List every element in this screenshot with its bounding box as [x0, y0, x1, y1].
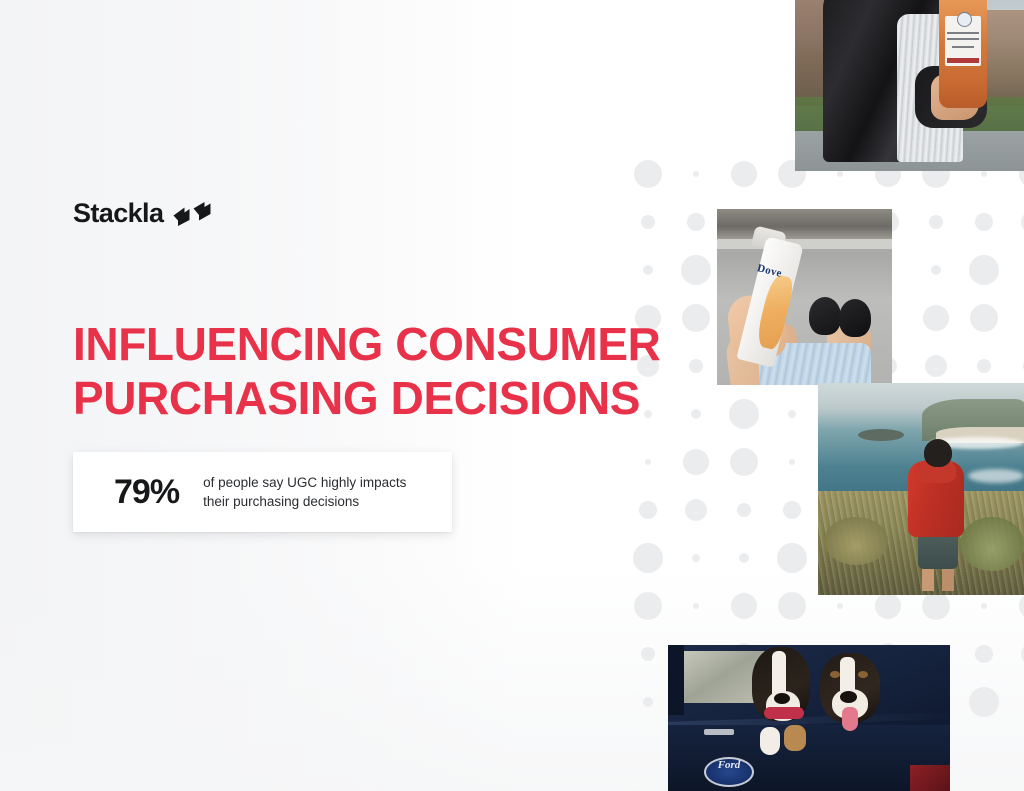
photo-coastal-hiker	[818, 383, 1024, 595]
decorative-dot	[923, 305, 949, 331]
decorative-dot	[970, 304, 998, 332]
decorative-dot	[975, 213, 993, 231]
decorative-dot	[681, 255, 711, 285]
decorative-dot	[837, 171, 843, 177]
dogs-photo-dog-right-tongue	[842, 707, 858, 731]
decorative-dot	[789, 459, 795, 465]
dogs-photo-pillar	[668, 645, 684, 715]
headline-line-2: PURCHASING DECISIONS	[73, 372, 693, 426]
decorative-dot	[687, 213, 705, 231]
decorative-dot	[729, 399, 759, 429]
decorative-dot	[931, 265, 941, 275]
decorative-dot	[730, 448, 758, 476]
headline-line-1: INFLUENCING CONSUMER	[73, 318, 693, 372]
decorative-dot	[969, 255, 999, 285]
decorative-dot	[685, 499, 707, 521]
decorative-dot	[929, 215, 943, 229]
dove-photo-street	[717, 209, 892, 241]
brand-logo: Stackla	[73, 200, 212, 227]
coast-photo-head	[924, 439, 952, 467]
page-title: INFLUENCING CONSUMER PURCHASING DECISION…	[73, 318, 693, 426]
decorative-dot	[737, 503, 751, 517]
coast-photo-bush-right	[960, 517, 1024, 571]
wine-photo-label-textline	[947, 32, 979, 34]
coast-photo-rocks	[858, 429, 904, 441]
stat-card: 79% of people say UGC highly impacts the…	[73, 452, 452, 532]
dogs-photo-taillight	[910, 765, 950, 791]
wine-photo-label-crest	[957, 12, 972, 27]
stat-description-line-2: their purchasing decisions	[203, 492, 406, 511]
decorative-dot	[643, 265, 653, 275]
ford-badge-text: Ford	[706, 759, 752, 771]
dogs-photo-dog-left-paw	[760, 727, 780, 755]
stackla-double-chevron-icon	[172, 201, 212, 227]
dogs-photo-door-handle	[704, 729, 734, 735]
decorative-dot	[641, 215, 655, 229]
stat-value: 79%	[114, 475, 179, 509]
brand-logo-wordmark: Stackla	[73, 200, 163, 227]
dogs-photo-dog-right-nose	[840, 691, 857, 703]
dogs-photo-dog-left-nose	[774, 693, 790, 704]
decorative-dot	[977, 359, 991, 373]
dove-photo-shoe-right	[839, 299, 871, 337]
photo-dove-product: Dove	[717, 209, 892, 385]
coast-photo-surf-secondary	[968, 469, 1024, 483]
dogs-photo-dog-left-paw-second	[784, 725, 806, 751]
coast-photo-bush-left	[824, 517, 888, 565]
decorative-dot	[639, 501, 657, 519]
decorative-dot	[925, 355, 947, 377]
decorative-dot	[683, 449, 709, 475]
decorative-dot	[693, 171, 699, 177]
decorative-dot	[634, 160, 662, 188]
photo-dogs-in-car: Ford	[668, 645, 950, 791]
dogs-photo-dog-left-collar	[764, 707, 804, 719]
dogs-photo-dog-right-brow-left	[830, 671, 840, 678]
decorative-dot	[783, 501, 801, 519]
decorative-dot	[731, 161, 757, 187]
decorative-dot	[645, 459, 651, 465]
wine-photo-label-textline	[952, 46, 974, 48]
dove-photo-shoe-left	[809, 297, 841, 335]
decorative-dot	[981, 171, 987, 177]
photo-wine-bottle	[795, 0, 1024, 171]
dogs-photo-dog-right-brow-right	[858, 671, 868, 678]
wine-photo-label-textline	[947, 38, 979, 40]
stat-description: of people say UGC highly impacts their p…	[203, 473, 406, 511]
slide-canvas: Dove Ford	[0, 0, 1024, 791]
stat-description-line-1: of people say UGC highly impacts	[203, 473, 406, 492]
dove-photo-curb	[717, 239, 892, 249]
ford-logo-badge: Ford	[704, 757, 754, 787]
decorative-dot	[788, 410, 796, 418]
wine-photo-label-bar	[947, 58, 979, 63]
